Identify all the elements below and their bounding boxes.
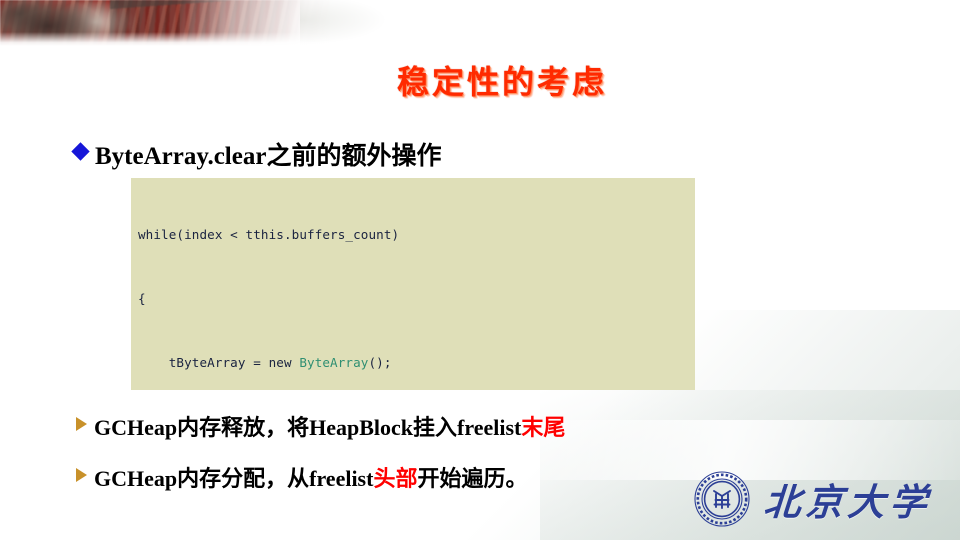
code-line-1: while(index < tthis.buffers_count) <box>138 224 695 245</box>
code-line-3-text-a: tByteArray = new <box>138 355 299 370</box>
photo-bottom-fade <box>0 32 330 46</box>
pku-seal-icon <box>693 470 751 528</box>
arrow-bullet-icon <box>76 417 87 431</box>
bullet-level1-label: ByteArray.clear之前的额外操作 <box>95 136 441 172</box>
code-line-3-text-b: (); <box>368 355 391 370</box>
bullet-level2-first-highlight: 末尾 <box>521 410 565 442</box>
code-line-2-text: { <box>138 291 146 306</box>
code-line-1-text: while(index < tthis.buffers_count) <box>138 227 399 242</box>
diamond-bullet-icon <box>71 142 89 160</box>
page-title: 稳定性的考虑 <box>0 57 960 103</box>
bullet-level2-first-prefix: GCHeap内存释放，将HeapBlock挂入freelist <box>94 410 521 442</box>
code-line-3: tByteArray = new ByteArray(); <box>138 352 695 373</box>
code-block: while(index < tthis.buffers_count) { tBy… <box>131 178 695 390</box>
bullet-level2-second: GCHeap内存分配，从freelist头部开始遍历。 <box>76 461 527 493</box>
bullet-level2-second-suffix: 开始遍历。 <box>417 461 527 493</box>
university-logo: 北京大学 <box>693 470 932 528</box>
code-line-2: { <box>138 288 695 309</box>
bullet-level2-second-prefix: GCHeap内存分配，从freelist <box>94 461 373 493</box>
code-line-3-type: ByteArray <box>299 355 368 370</box>
university-name: 北京大学 <box>762 472 934 526</box>
bullet-level2-first: GCHeap内存释放，将HeapBlock挂入freelist末尾 <box>76 410 565 442</box>
arrow-bullet-icon <box>76 468 87 482</box>
page-title-text: 稳定性的考虑 <box>397 57 607 103</box>
header-photo-banner <box>0 0 330 46</box>
slide-canvas: 稳定性的考虑 ByteArray.clear之前的额外操作 while(inde… <box>0 0 960 540</box>
bullet-level2-second-highlight: 头部 <box>373 461 417 493</box>
bullet-level1: ByteArray.clear之前的额外操作 <box>74 136 441 172</box>
